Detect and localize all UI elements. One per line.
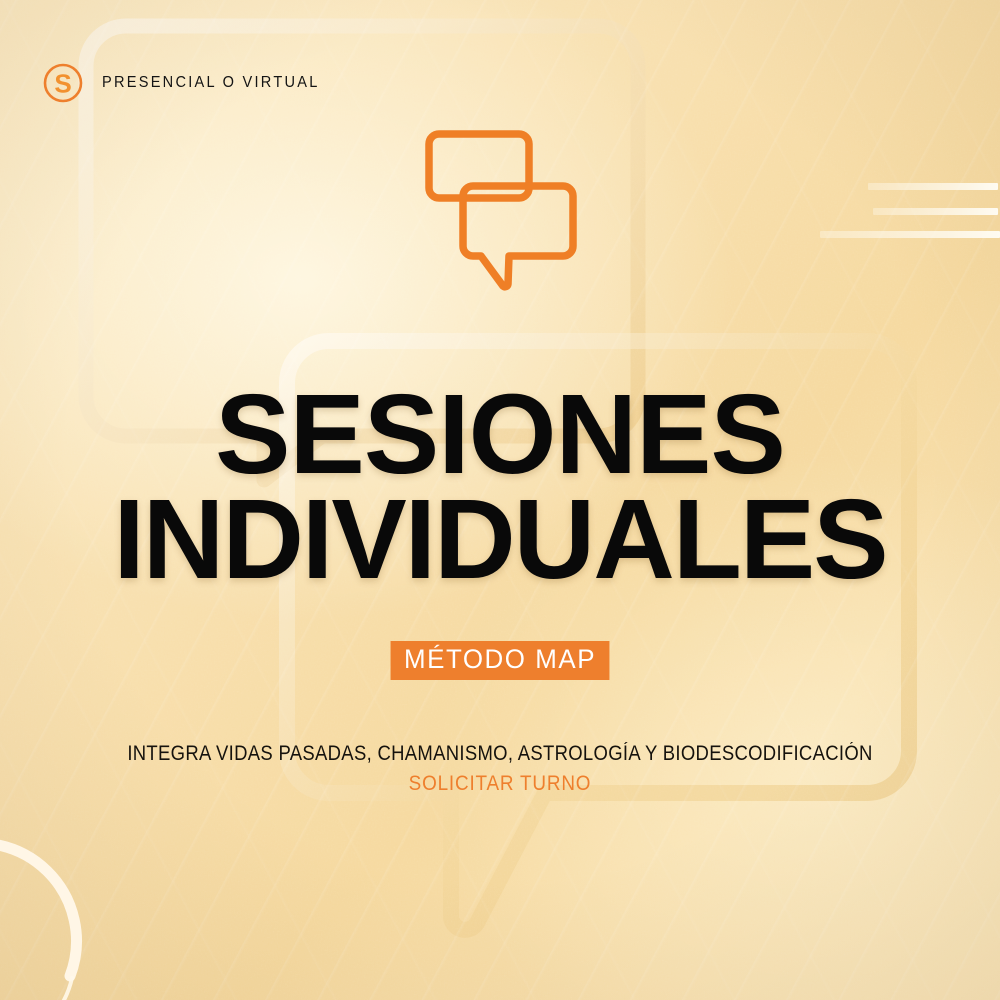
headline-line-2: INDIVIDUALES [0,487,1000,592]
description-text: INTEGRA VIDAS PASADAS, CHAMANISMO, ASTRO… [60,742,940,766]
poster-canvas: S PRESENCIAL O VIRTUAL SESIONES INDIVIDU… [0,0,1000,1000]
bottom-copy: INTEGRA VIDAS PASADAS, CHAMANISMO, ASTRO… [0,742,1000,796]
header-bar: S PRESENCIAL O VIRTUAL [42,62,333,104]
status-badge: MÉTODO MAP [391,641,610,680]
cta-link[interactable]: SOLICITAR TURNO [50,772,950,796]
chat-bubbles-icon [415,128,587,303]
decorative-arc-icon [0,828,152,1000]
headline-line-1: SESIONES [0,382,1000,487]
decorative-lines-icon [820,183,1000,238]
circle-s-logo-icon: S [42,62,84,104]
page-title: SESIONES INDIVIDUALES [0,382,1000,592]
method-badge-wrap: MÉTODO MAP [0,641,1000,680]
kicker-text: PRESENCIAL O VIRTUAL [102,74,320,92]
logo-letter: S [54,69,71,99]
